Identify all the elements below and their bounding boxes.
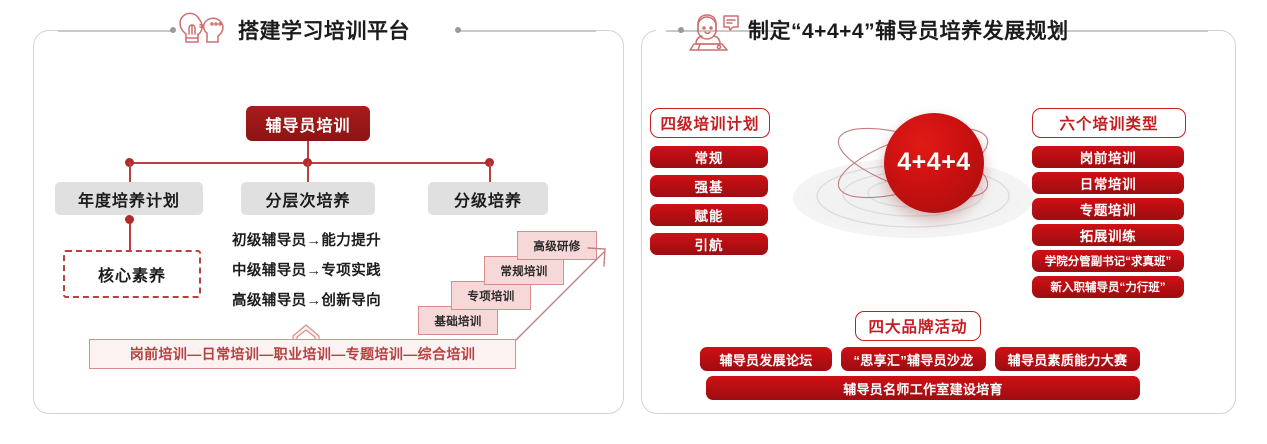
person-laptop-icon (686, 8, 742, 52)
type-item-preservice[interactable]: 岗前培训 (1032, 146, 1184, 168)
brand-item-studio[interactable]: 辅导员名师工作室建设培育 (706, 376, 1140, 400)
left-connector-line-a (58, 30, 174, 32)
right-panel-heading: 制定“4+4+4”辅导员培养发展规划 (686, 8, 1069, 52)
left-panel-heading: 搭建学习培训平台 (176, 8, 410, 52)
tree-drop-right (489, 162, 491, 182)
lightbulb-brain-icon (176, 8, 232, 52)
plan-item-empower[interactable]: 赋能 (650, 204, 768, 226)
orbit-graphic: 4+4+4 (790, 108, 1036, 258)
center-node-label: 4+4+4 (897, 148, 970, 177)
tree-drop-left (129, 162, 131, 182)
infographic-canvas: 搭建学习培训平台 辅导员培训 年度培养计划 分层次培养 分级培养 核心素养 初级… (0, 0, 1267, 444)
left-panel-title: 搭建学习培训平台 (232, 15, 410, 45)
right-connector-dot-a (678, 27, 684, 33)
type-item-expansion[interactable]: 拓展训练 (1032, 224, 1184, 246)
type-item-lixing-class[interactable]: 新入职辅导员“力行班” (1032, 276, 1184, 298)
type-item-qiuzhen-class[interactable]: 学院分管副书记“求真班” (1032, 250, 1184, 272)
pathway-list: 初级辅导员→能力提升 中级辅导员→专项实践 高级辅导员→创新导向 (232, 226, 432, 316)
rising-arrow-icon (508, 228, 618, 348)
brand-item-contest[interactable]: 辅导员素质能力大赛 (995, 347, 1140, 371)
plan-item-strength[interactable]: 强基 (650, 175, 768, 197)
brand-item-forum[interactable]: 辅导员发展论坛 (700, 347, 832, 371)
pathway-item: 中级辅导员→专项实践 (232, 256, 432, 286)
pathway-item: 初级辅导员→能力提升 (232, 226, 432, 256)
tree-drop-center (307, 162, 309, 182)
right-panel-title: 制定“4+4+4”辅导员培养发展规划 (742, 15, 1069, 45)
four-level-plan-title: 四级培训计划 (650, 108, 770, 138)
four-brand-activities-title: 四大品牌活动 (855, 311, 981, 341)
stair-step-basic[interactable]: 基础培训 (418, 306, 498, 335)
right-connector-line-b (1060, 30, 1208, 32)
root-node-counselor-training[interactable]: 辅导员培训 (246, 106, 370, 141)
left-connector-line-b (460, 30, 596, 32)
six-training-types-title: 六个培训类型 (1032, 108, 1186, 138)
type-item-thematic[interactable]: 专题培训 (1032, 198, 1184, 220)
left-connector-dot-b (455, 27, 461, 33)
plan-item-regular[interactable]: 常规 (650, 146, 768, 168)
type-item-daily[interactable]: 日常培训 (1032, 172, 1184, 194)
branch-annual-plan[interactable]: 年度培养计划 (55, 182, 203, 215)
plan-item-lead[interactable]: 引航 (650, 233, 768, 255)
brand-item-salon[interactable]: “思享汇”辅导员沙龙 (841, 347, 986, 371)
core-literacy-box[interactable]: 核心素养 (63, 250, 201, 298)
core-literacy-dot (125, 215, 134, 224)
center-node-444[interactable]: 4+4+4 (884, 113, 984, 213)
training-sequence-bar[interactable]: 岗前培训—日常培训—职业培训—专题培训—综合培训 (89, 339, 516, 369)
pathway-item: 高级辅导员→创新导向 (232, 286, 432, 316)
branch-graded-training[interactable]: 分级培养 (428, 182, 548, 215)
branch-tiered-training[interactable]: 分层次培养 (241, 182, 375, 215)
